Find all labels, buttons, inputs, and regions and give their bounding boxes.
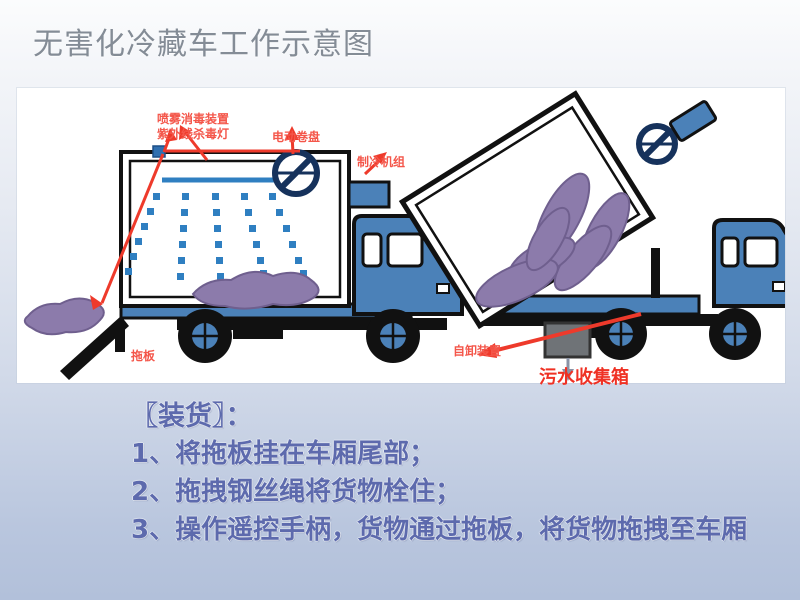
instruction-step-2: 2、拖拽钢丝绳将货物栓住； xyxy=(131,473,791,511)
electric-reel-icon xyxy=(639,126,675,162)
instructions-block: 〖装货〗： 1、将拖板挂在车厢尾部； 2、拖拽钢丝绳将货物栓住； 3、操作遥控手… xyxy=(131,399,791,549)
left-truck-group xyxy=(25,146,462,380)
hydraulic-lift xyxy=(651,248,660,298)
wheel xyxy=(178,309,232,363)
electric-reel-icon xyxy=(275,152,317,194)
instruction-step-1: 1、将拖板挂在车厢尾部； xyxy=(131,435,791,473)
wheel xyxy=(366,309,420,363)
page-title: 无害化冷藏车工作示意图 xyxy=(33,26,374,64)
diagram-panel: 喷雾消毒装置 紫外线杀毒灯 电动卷盘 制冷机组 拖板 自卸装置 xyxy=(17,88,785,383)
label-spray-device: 喷雾消毒装置 紫外线杀毒灯 xyxy=(157,112,229,142)
instruction-step-3: 3、操作遥控手柄，货物通过拖板，将货物拖拽至车厢 xyxy=(131,511,791,549)
chiller-unit xyxy=(349,182,389,207)
label-waste-collection-tank: 污水收集箱 xyxy=(539,367,629,389)
label-ramp-board: 拖板 xyxy=(131,349,155,364)
right-truck-group xyxy=(402,94,785,360)
slide-canvas: 无害化冷藏车工作示意图 xyxy=(0,0,800,600)
instructions-heading: 〖装货〗： xyxy=(131,399,791,435)
label-chiller-unit: 制冷机组 xyxy=(357,155,405,170)
truck-diagram-illustration xyxy=(17,88,785,383)
label-dump-device: 自卸装置 xyxy=(453,344,501,359)
wheel xyxy=(709,308,761,360)
label-electric-reel: 电动卷盘 xyxy=(272,130,320,145)
